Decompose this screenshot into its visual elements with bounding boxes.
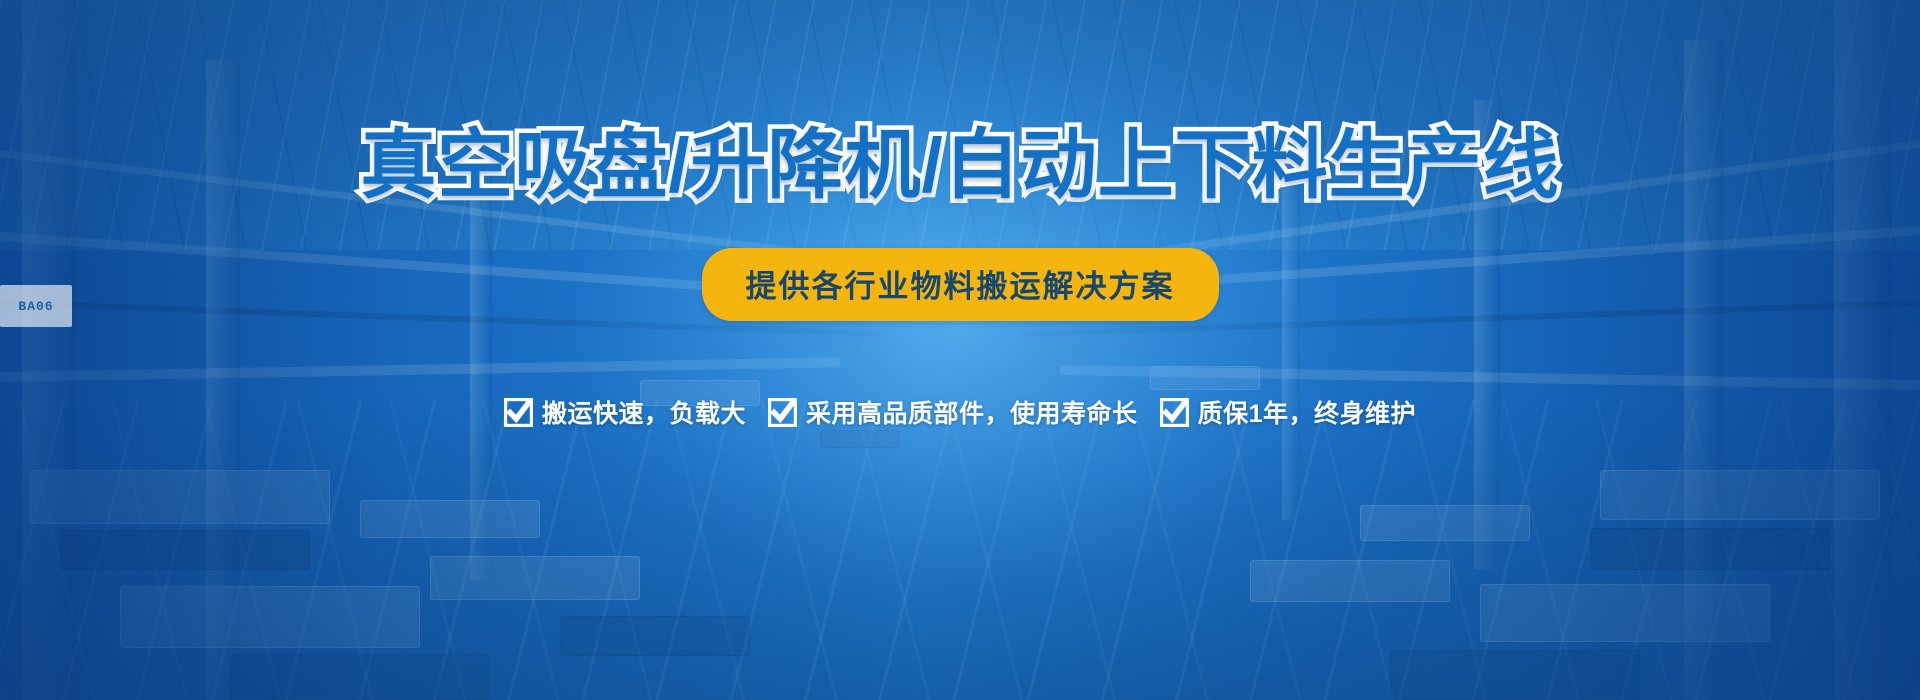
feature-list: 搬运快速，负载大 采用高品质部件，使用寿命长 (504, 394, 1416, 430)
feature-label: 搬运快速，负载大 (542, 394, 746, 430)
feature-label: 质保1年，终身维护 (1198, 394, 1416, 430)
check-box-icon (504, 398, 533, 427)
hero-banner: BA06 真空吸盘/升降机/自动上下料生产线 提供各行业物料搬运解决方案 搬运快… (0, 0, 1920, 700)
banner-headline: 真空吸盘/升降机/自动上下料生产线 (360, 128, 1559, 204)
banner-content: 真空吸盘/升降机/自动上下料生产线 提供各行业物料搬运解决方案 搬运快速，负载大 (0, 0, 1920, 700)
check-box-icon (1160, 398, 1189, 427)
check-box-icon (768, 398, 797, 427)
feature-label: 采用高品质部件，使用寿命长 (806, 394, 1138, 430)
feature-item: 采用高品质部件，使用寿命长 (768, 394, 1138, 430)
banner-subtitle-badge: 提供各行业物料搬运解决方案 (702, 248, 1219, 321)
feature-item: 质保1年，终身维护 (1160, 394, 1416, 430)
feature-item: 搬运快速，负载大 (504, 394, 746, 430)
